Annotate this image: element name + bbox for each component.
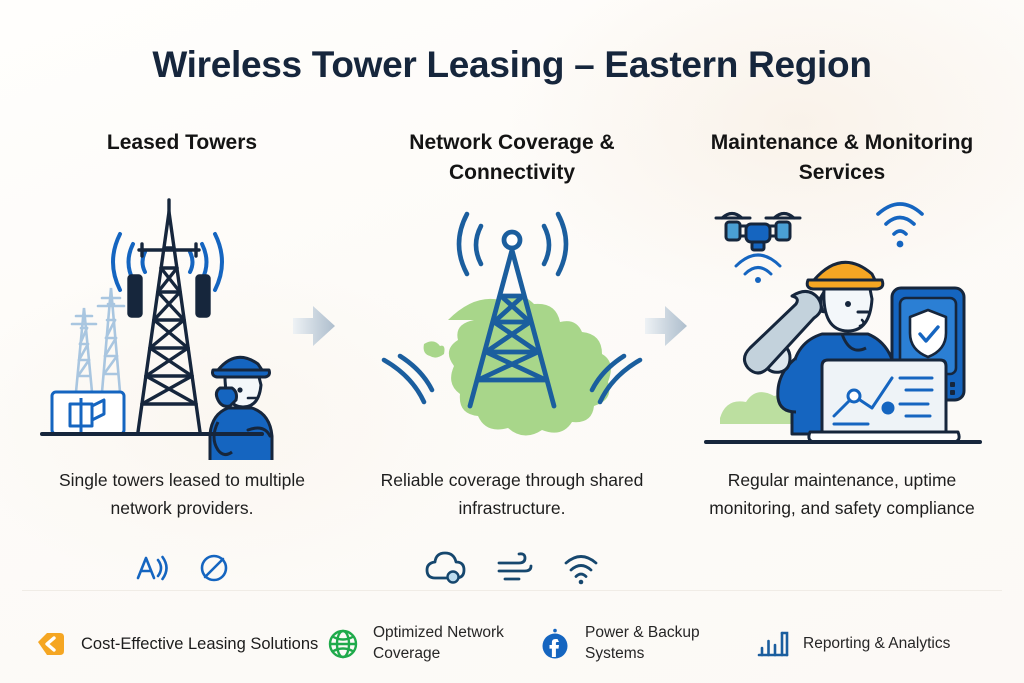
footer-item-cost-effective-leasing[interactable]: Cost-Effective Leasing Solutions [34,627,326,661]
footer-item-power-backup-systems[interactable]: Power & Backup Systems [538,623,756,665]
columns-row: Leased Towers [0,128,1024,591]
column-1-caption: Single towers leased to multiple network… [37,466,327,523]
footer-feature-row: Cost-Effective Leasing Solutions Optimiz… [0,623,1024,665]
price-tag-icon [34,627,68,661]
footer-item-1-label: Cost-Effective Leasing Solutions [81,633,318,655]
footer-item-3-label: Power & Backup Systems [585,623,756,665]
column-maintenance-monitoring: Maintenance & Monitoring Services [677,128,1007,591]
column-2-mini-icons [423,545,601,591]
page-title: Wireless Tower Leasing – Eastern Region [0,44,1024,86]
illustration-regional-map-with-transmission-tower [362,192,662,460]
footer-item-4-label: Reporting & Analytics [803,634,950,655]
power-backup-icon [538,627,572,661]
cloud-icon [423,549,467,587]
column-1-heading: Leased Towers [107,128,257,190]
column-3-caption: Regular maintenance, uptime monitoring, … [697,466,987,523]
column-2-heading: Network Coverage & Connectivity [347,128,677,190]
illustration-lattice-tower-with-technician [32,192,332,460]
column-2-caption: Reliable coverage through shared infrast… [367,466,657,523]
no-signal-globe-icon [195,549,233,587]
wind-flow-icon [493,549,535,587]
globe-network-icon [326,627,360,661]
wifi-icon [561,549,601,587]
broadcast-antenna-icon [131,549,169,587]
infographic-canvas: Wireless Tower Leasing – Eastern Region [0,0,1024,683]
column-leased-towers: Leased Towers [17,128,347,591]
column-network-coverage: Network Coverage & Connectivity [347,128,677,591]
footer-item-optimized-network-coverage[interactable]: Optimized Network Coverage [326,623,538,665]
illustration-technician-drone-laptop-shield [692,192,992,460]
column-3-heading: Maintenance & Monitoring Services [677,128,1007,190]
footer-item-reporting-analytics[interactable]: Reporting & Analytics [756,627,956,661]
column-1-mini-icons [131,545,233,591]
footer-divider [22,590,1002,591]
footer-item-2-label: Optimized Network Coverage [373,623,538,665]
bar-chart-icon [756,627,790,661]
